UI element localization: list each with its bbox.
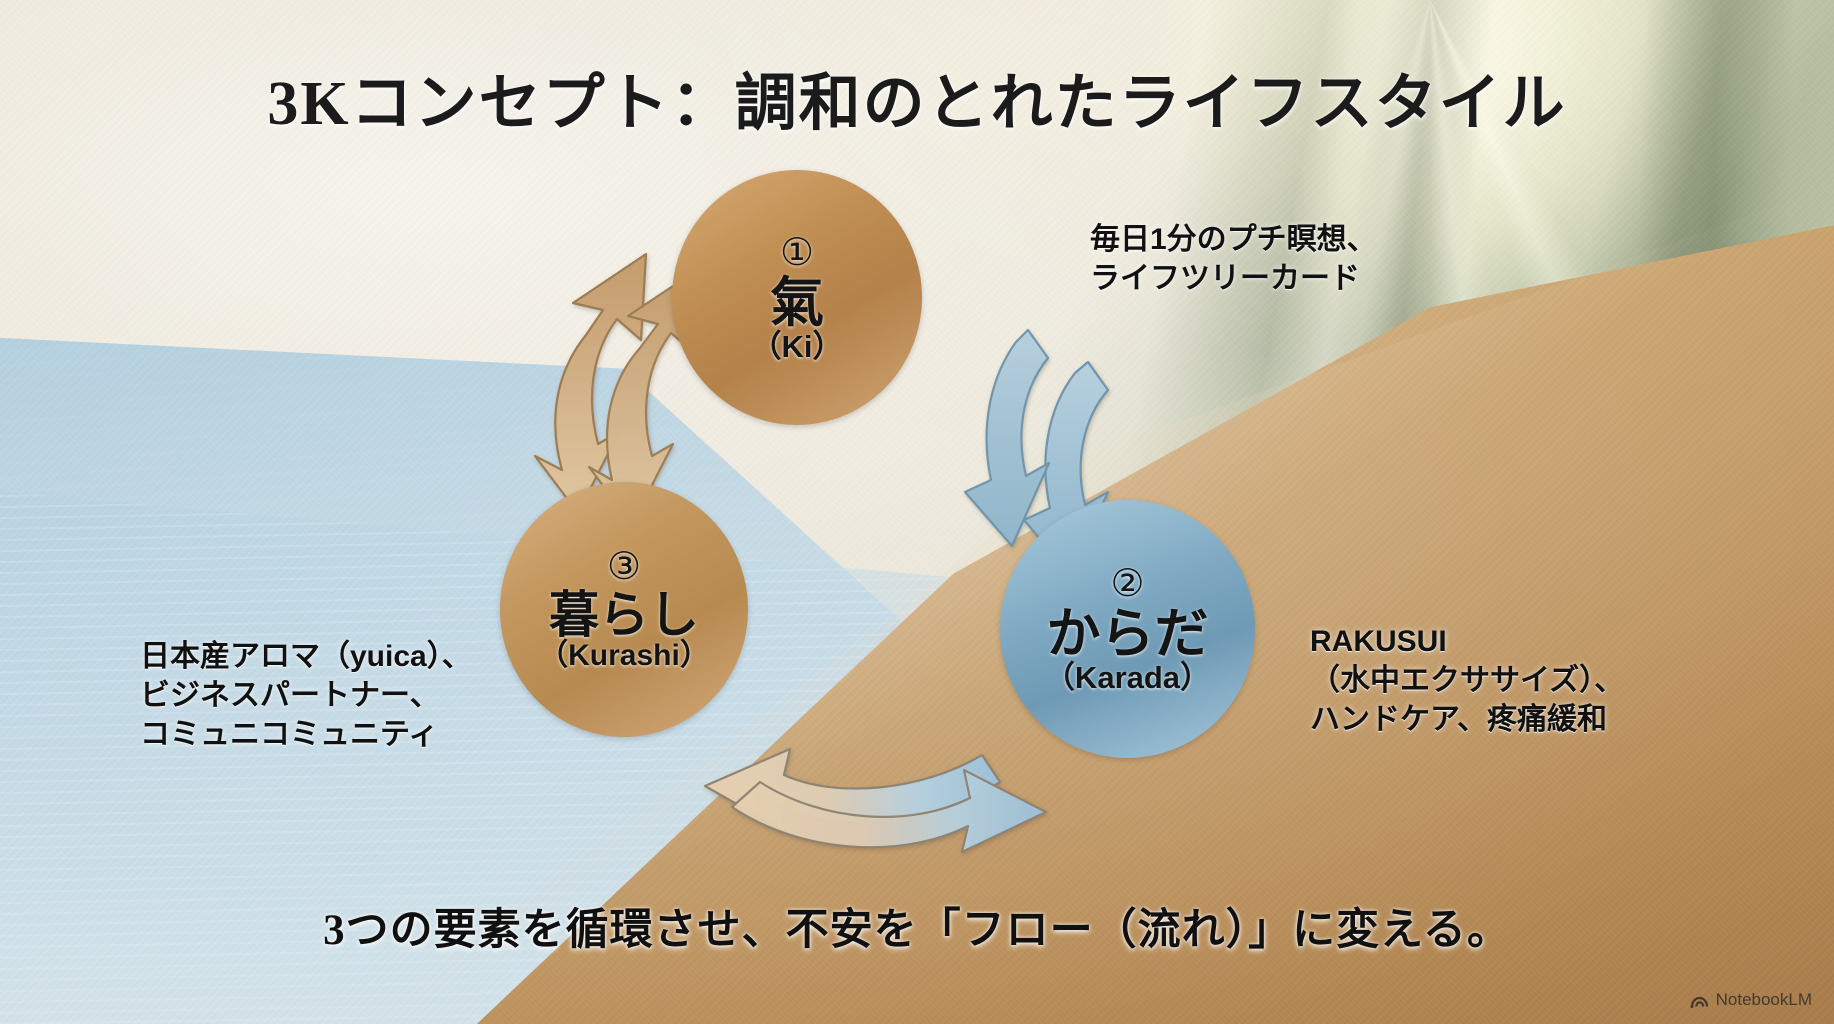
node-kurashi[interactable]: ③ 暮らし （Kurashi） — [500, 482, 748, 737]
callout-kurashi: 日本産アロマ（yuica）、 ビジネスパートナー、 コミュニコミュニティ — [140, 637, 472, 754]
node-ki[interactable]: ① 氣 （Ki） — [672, 170, 922, 425]
node-karada-text: ② からだ （Karada） — [1044, 564, 1211, 693]
callout-ki: 毎日1分のプチ瞑想、 ライフツリーカード — [1090, 220, 1377, 298]
notebooklm-label: NotebookLM — [1716, 990, 1812, 1010]
notebooklm-icon — [1690, 993, 1709, 1008]
node-karada-number: ② — [1044, 564, 1211, 603]
callout-karada: RAKUSUI （水中エクササイズ）、 ハンドケア、疼痛緩和 — [1310, 622, 1624, 739]
node-kurashi-number: ③ — [538, 547, 710, 586]
node-ki-text: ① 氣 （Ki） — [751, 233, 844, 362]
node-ki-number: ① — [751, 233, 844, 272]
node-ki-label: 氣 — [751, 276, 844, 331]
node-karada-label: からだ — [1044, 607, 1211, 662]
node-karada[interactable]: ② からだ （Karada） — [1000, 500, 1255, 758]
slide-caption: 3つの要素を循環させ、不安を「フロー（流れ）」に変える。 — [0, 895, 1834, 957]
notebooklm-watermark: NotebookLM — [1690, 990, 1812, 1010]
node-kurashi-label: 暮らし — [538, 590, 710, 641]
node-kurashi-romaji: （Kurashi） — [538, 641, 710, 672]
slide-canvas: 3Kコンセプト：調和のとれたライフスタイル — [0, 0, 1834, 1024]
background-grain — [0, 0, 1834, 1024]
node-karada-romaji: （Karada） — [1044, 662, 1211, 694]
node-kurashi-text: ③ 暮らし （Kurashi） — [538, 547, 710, 671]
slide-title: 3Kコンセプト：調和のとれたライフスタイル — [0, 52, 1834, 142]
node-ki-romaji: （Ki） — [751, 331, 844, 363]
